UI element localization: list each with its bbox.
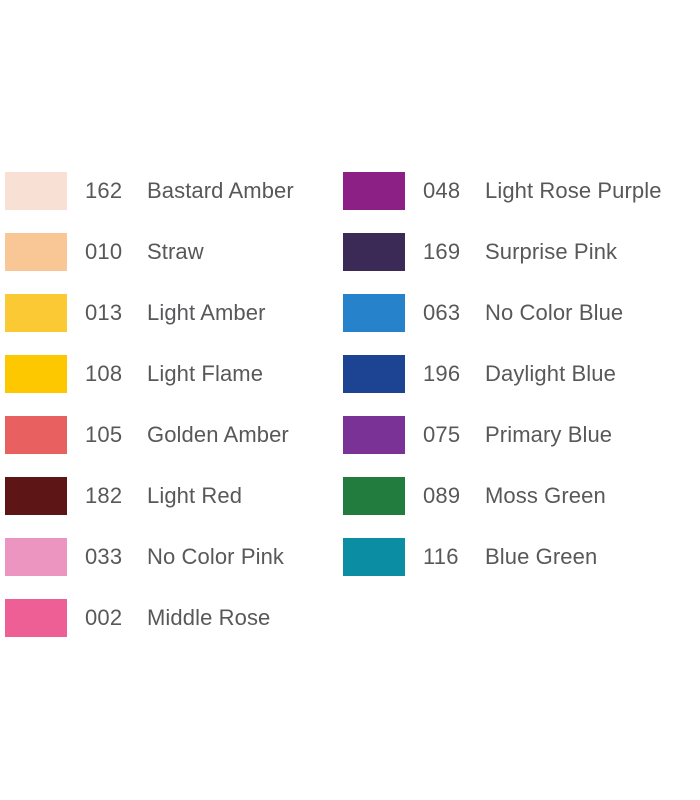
color-swatch-chip[interactable] <box>5 294 67 332</box>
swatch-row[interactable]: 048Light Rose Purple <box>343 172 700 233</box>
swatch-name: Light Rose Purple <box>485 172 662 210</box>
swatch-code: 002 <box>85 599 137 637</box>
swatch-code: 196 <box>423 355 475 393</box>
swatch-code: 075 <box>423 416 475 454</box>
swatch-name: Primary Blue <box>485 416 612 454</box>
swatch-row[interactable]: 108Light Flame <box>5 355 335 416</box>
color-swatch-chip[interactable] <box>343 538 405 576</box>
swatch-name: Daylight Blue <box>485 355 616 393</box>
swatch-code: 169 <box>423 233 475 271</box>
color-swatch-chip[interactable] <box>343 355 405 393</box>
color-swatch-chip[interactable] <box>5 233 67 271</box>
swatch-row[interactable]: 002Middle Rose <box>5 599 335 660</box>
swatch-name: Blue Green <box>485 538 597 576</box>
color-swatch-chip[interactable] <box>5 477 67 515</box>
color-swatch-chip[interactable] <box>5 355 67 393</box>
swatch-code: 108 <box>85 355 137 393</box>
swatch-row[interactable]: 033No Color Pink <box>5 538 335 599</box>
color-swatch-chip[interactable] <box>343 416 405 454</box>
swatch-code: 089 <box>423 477 475 515</box>
swatch-column-right: 048Light Rose Purple169Surprise Pink063N… <box>343 172 700 599</box>
swatch-code: 182 <box>85 477 137 515</box>
color-swatch-chip[interactable] <box>5 538 67 576</box>
swatch-name: No Color Pink <box>147 538 284 576</box>
swatch-row[interactable]: 182Light Red <box>5 477 335 538</box>
swatch-name: No Color Blue <box>485 294 623 332</box>
swatch-name: Light Flame <box>147 355 263 393</box>
swatch-code: 033 <box>85 538 137 576</box>
swatch-row[interactable]: 013Light Amber <box>5 294 335 355</box>
swatch-row[interactable]: 116Blue Green <box>343 538 700 599</box>
color-swatch-chip[interactable] <box>5 599 67 637</box>
swatch-name: Straw <box>147 233 204 271</box>
swatch-code: 013 <box>85 294 137 332</box>
color-swatch-chip[interactable] <box>343 294 405 332</box>
swatch-code: 105 <box>85 416 137 454</box>
swatch-row[interactable]: 169Surprise Pink <box>343 233 700 294</box>
swatch-row[interactable]: 063No Color Blue <box>343 294 700 355</box>
swatch-name: Light Amber <box>147 294 266 332</box>
swatch-name: Surprise Pink <box>485 233 617 271</box>
swatch-code: 116 <box>423 538 475 576</box>
swatch-name: Middle Rose <box>147 599 270 637</box>
swatch-row[interactable]: 105Golden Amber <box>5 416 335 477</box>
color-swatch-chip[interactable] <box>5 172 67 210</box>
swatch-name: Bastard Amber <box>147 172 294 210</box>
swatch-code: 063 <box>423 294 475 332</box>
swatch-row[interactable]: 196Daylight Blue <box>343 355 700 416</box>
swatch-column-left: 162Bastard Amber010Straw013Light Amber10… <box>5 172 335 660</box>
swatch-name: Moss Green <box>485 477 606 515</box>
swatch-code: 048 <box>423 172 475 210</box>
swatch-code: 010 <box>85 233 137 271</box>
swatch-row[interactable]: 010Straw <box>5 233 335 294</box>
color-swatch-chart: 162Bastard Amber010Straw013Light Amber10… <box>0 0 700 800</box>
swatch-name: Golden Amber <box>147 416 289 454</box>
swatch-name: Light Red <box>147 477 242 515</box>
swatch-row[interactable]: 089Moss Green <box>343 477 700 538</box>
swatch-code: 162 <box>85 172 137 210</box>
color-swatch-chip[interactable] <box>343 172 405 210</box>
swatch-row[interactable]: 075Primary Blue <box>343 416 700 477</box>
color-swatch-chip[interactable] <box>343 477 405 515</box>
color-swatch-chip[interactable] <box>343 233 405 271</box>
color-swatch-chip[interactable] <box>5 416 67 454</box>
swatch-row[interactable]: 162Bastard Amber <box>5 172 335 233</box>
